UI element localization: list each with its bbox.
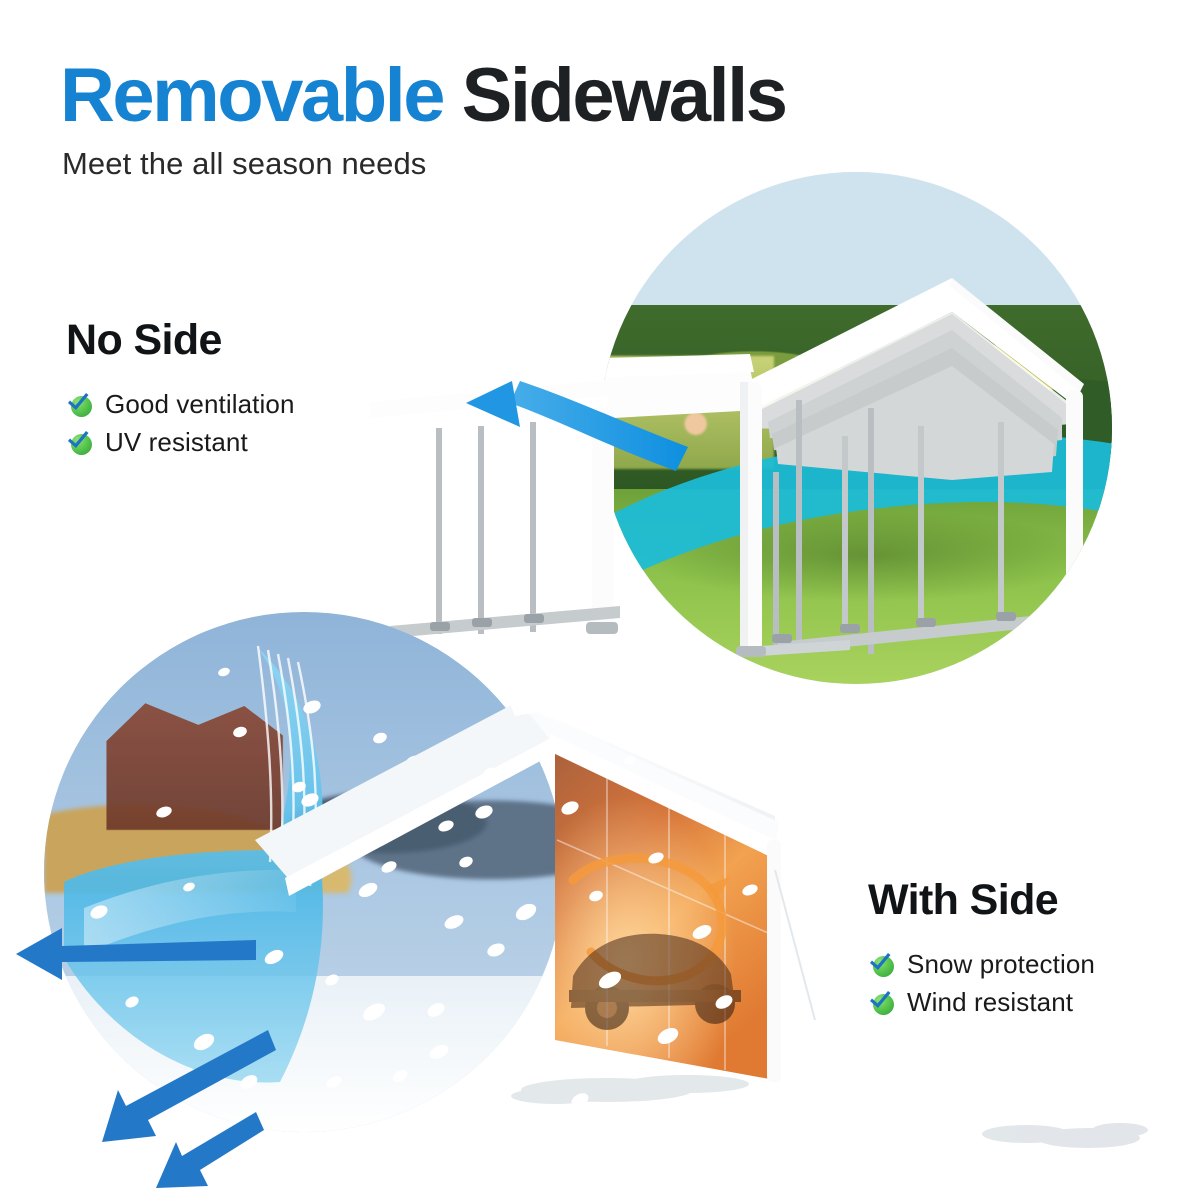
list-item: UV resistant: [66, 423, 295, 461]
check-icon: [868, 951, 894, 977]
ground-snow-patch: [980, 1110, 1150, 1160]
list-item: Good ventilation: [66, 385, 295, 423]
snow-ground: [44, 976, 564, 1132]
winter-closed-carport-photo: [44, 612, 564, 1132]
page-title-rest: Sidewalls: [462, 53, 786, 138]
carport-structure: [600, 172, 1112, 684]
page-title: Removable Sidewalls: [60, 58, 786, 134]
page-subtitle: Meet the all season needs: [62, 146, 426, 182]
list-item-label: Wind resistant: [907, 987, 1073, 1018]
list-item-label: Snow protection: [907, 949, 1095, 980]
check-icon: [66, 429, 92, 455]
feature-with-side-heading: With Side: [868, 878, 1095, 923]
infographic-canvas: Removable Sidewalls Meet the all season …: [0, 0, 1200, 1200]
feature-no-side: No Side Good ventilation UV resistant: [66, 318, 295, 461]
list-item-label: UV resistant: [105, 427, 248, 458]
feature-no-side-bullets: Good ventilation UV resistant: [66, 385, 295, 461]
list-item: Snow protection: [868, 945, 1095, 983]
check-icon: [868, 989, 894, 1015]
feature-with-side-bullets: Snow protection Wind resistant: [868, 945, 1095, 1021]
feature-no-side-heading: No Side: [66, 318, 295, 363]
page-title-highlight: Removable: [60, 53, 443, 138]
list-item: Wind resistant: [868, 983, 1095, 1021]
summer-open-carport-photo: [600, 172, 1112, 684]
check-icon: [66, 391, 92, 417]
list-item-label: Good ventilation: [105, 389, 295, 420]
feature-with-side: With Side Snow protection Wind resistant: [868, 878, 1095, 1021]
